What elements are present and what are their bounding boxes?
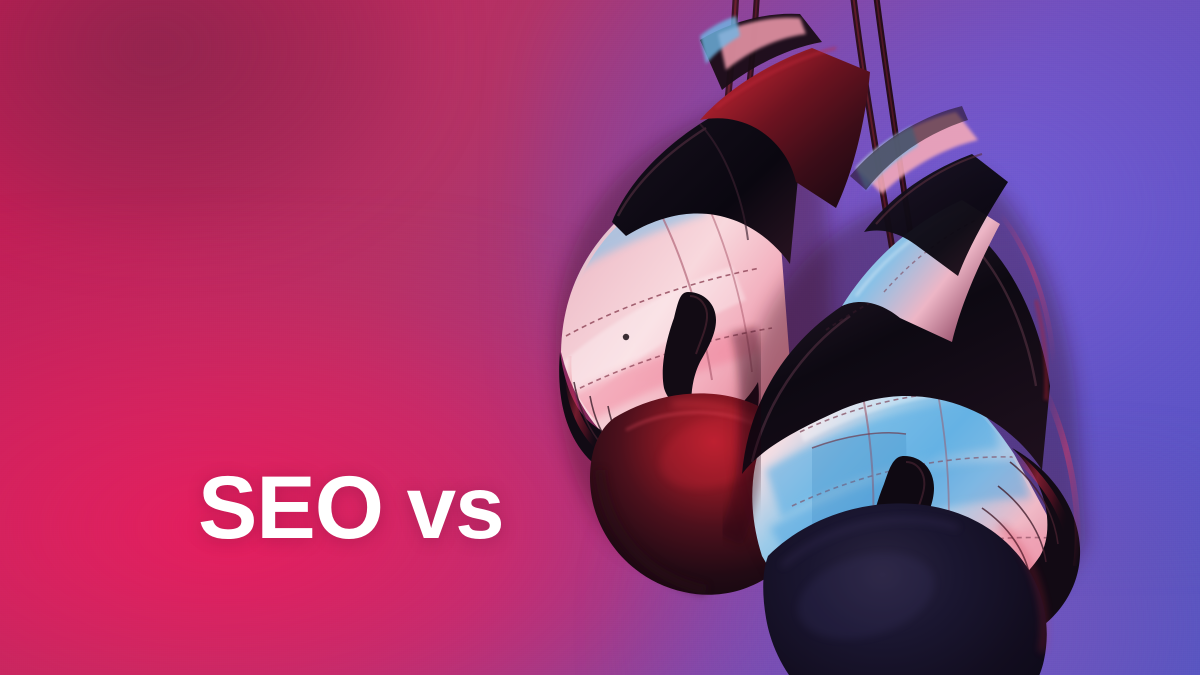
background-glow-maroon [0, 0, 432, 243]
page-title: SEO vs Paid Ads [118, 232, 504, 675]
background-glow-purple [624, 459, 1200, 675]
poster-canvas: SEO vs Paid Ads [0, 0, 1200, 675]
headline-line-1: SEO vs [118, 452, 504, 562]
